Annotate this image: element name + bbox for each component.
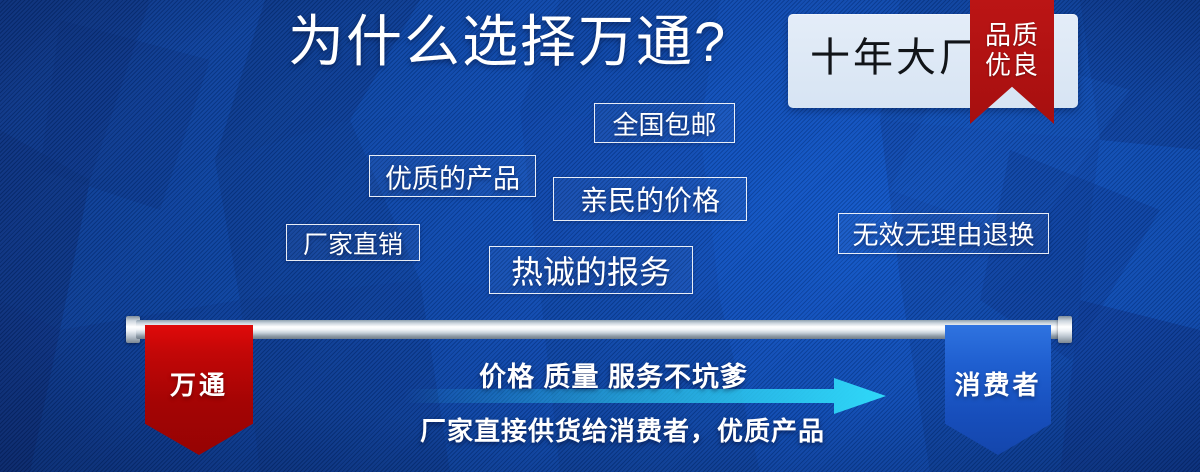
feature-tag-label: 全国包邮 bbox=[612, 105, 716, 142]
flow-message-bottom: 厂家直接供货给消费者，优质产品 bbox=[420, 411, 825, 448]
feature-tag: 无效无理由退换 bbox=[838, 213, 1049, 254]
hanging-rod bbox=[136, 320, 1066, 339]
feature-tag-label: 亲民的价格 bbox=[580, 179, 720, 219]
feature-tag: 热诚的报务 bbox=[489, 246, 693, 294]
vendor-label: 万通 bbox=[170, 365, 228, 402]
badge-main-text: 十年大厂 bbox=[810, 38, 982, 78]
feature-tag-label: 无效无理由退换 bbox=[852, 215, 1034, 252]
promo-banner: 为什么选择万通? 十年大厂 品质 优良 全国包邮优质的产品亲民的价格厂家直销无效… bbox=[0, 0, 1200, 472]
flow-message-top: 价格 质量 服务不坑爹 bbox=[479, 355, 748, 394]
page-title: 为什么选择万通? bbox=[288, 14, 727, 70]
feature-tag: 优质的产品 bbox=[369, 155, 536, 197]
feature-tag: 厂家直销 bbox=[286, 224, 420, 261]
feature-tag-label: 优质的产品 bbox=[385, 157, 520, 196]
feature-tag-label: 厂家直销 bbox=[303, 225, 403, 261]
quality-ribbon: 品质 优良 bbox=[970, 0, 1054, 124]
feature-tag: 全国包邮 bbox=[594, 103, 735, 143]
ribbon-line-2: 优良 bbox=[970, 52, 1054, 79]
ribbon-line-1: 品质 bbox=[970, 22, 1054, 49]
customer-label: 消费者 bbox=[954, 365, 1041, 402]
feature-tag: 亲民的价格 bbox=[553, 177, 747, 221]
quality-badge: 十年大厂 品质 优良 bbox=[788, 14, 1078, 108]
bar-end-cap-right bbox=[1058, 316, 1072, 343]
feature-tag-label: 热诚的报务 bbox=[511, 247, 671, 293]
